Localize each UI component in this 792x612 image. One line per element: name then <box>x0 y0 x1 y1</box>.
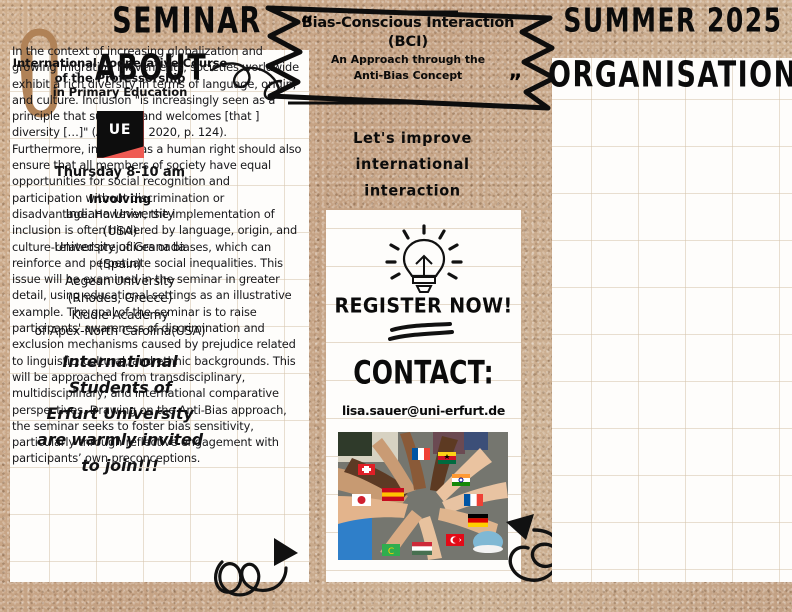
tagline-line-2: international <box>320 152 505 178</box>
curly-arrow-right-doodle <box>206 532 311 604</box>
register-card: REGISTER NOW! CONTACT: lisa.sauer@uni-er… <box>326 210 521 582</box>
hands-in-circle-photo: C <box>338 432 508 560</box>
partner-line: Aegean University <box>0 273 240 290</box>
double-underline-doodle <box>388 322 456 344</box>
page-title-summer: SUMMER 2025 <box>562 4 784 39</box>
partner-line: (USA) <box>0 223 240 240</box>
section-title-organisation: ORGANISATION <box>548 57 792 94</box>
involving-label: Involving <box>0 192 240 206</box>
organisation-card <box>552 58 792 582</box>
course-line-1: International Cooperative Course <box>0 56 240 71</box>
invitation-line: International <box>0 349 240 375</box>
tagline: Let's improve international interaction <box>320 126 505 205</box>
ue-logo-text: UE <box>97 122 144 138</box>
partner-line: (Spain) <box>0 256 240 273</box>
invitation-block: InternationalStudents ofErfurt Universit… <box>0 349 240 479</box>
speech-bubble: Bias-Conscious Interaction (BCI) An Appr… <box>258 0 558 115</box>
tagline-line-1: Let's improve <box>320 126 505 152</box>
register-now-heading: REGISTER NOW! <box>326 294 521 318</box>
bubble-line-3: An Approach through the <box>258 52 558 68</box>
invitation-line: Students of <box>0 375 240 401</box>
quote-close-mark: ” <box>508 72 522 93</box>
course-line-2: of the Professorship <box>0 71 240 86</box>
course-line-3: in Primary Education <box>0 85 240 100</box>
partner-line: Kiddie Academy <box>0 307 240 324</box>
partners-list: Indiana University(USA)University of Gra… <box>0 206 240 340</box>
invitation-line: to join!!! <box>0 453 240 479</box>
contact-label: CONTACT: <box>326 354 521 391</box>
partner-line: (Rhodes, Greece) <box>0 290 240 307</box>
course-time: Thursday 8-10 am <box>0 165 240 180</box>
invitation-line: are warmly invited <box>0 427 240 453</box>
lightbulb-icon <box>384 226 464 296</box>
quote-open-mark: “ <box>300 14 314 35</box>
ue-university-logo: UE <box>97 111 144 158</box>
partner-line: University of Granada <box>0 239 240 256</box>
organisation-body: International Cooperative Course of the … <box>0 56 240 479</box>
contact-email[interactable]: lisa.sauer@uni-erfurt.de <box>326 403 521 418</box>
tagline-line-3: interaction <box>320 179 505 205</box>
partner-line: Indiana University <box>0 206 240 223</box>
svg-text:C: C <box>388 547 394 557</box>
partner-line: of Apex-North Carolina(USA) <box>0 323 240 340</box>
invitation-line: Erfurt University <box>0 401 240 427</box>
